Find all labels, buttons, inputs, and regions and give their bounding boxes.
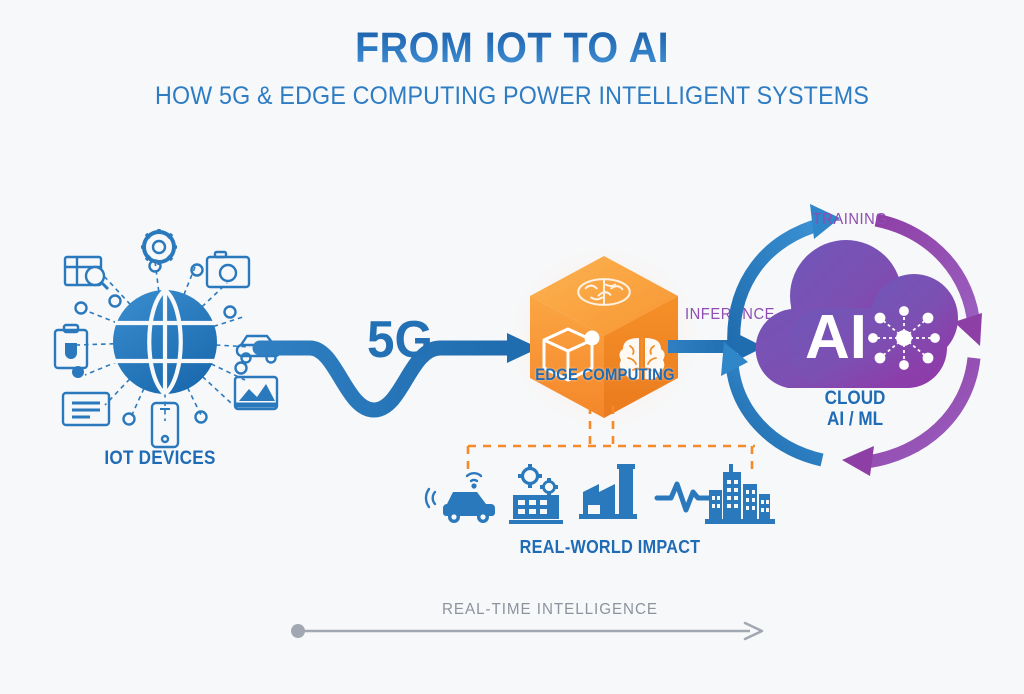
ai-badge-text: AI [805, 303, 867, 372]
heartbeat-icon [657, 484, 714, 510]
edge-computing-label: EDGE COMPUTING [506, 366, 704, 385]
gear-icon [141, 229, 177, 265]
document-icon [63, 393, 109, 425]
factory-icon [579, 464, 637, 519]
smartphone-icon [152, 403, 178, 447]
real-world-impact-label: REAL-WORLD IMPACT [493, 537, 727, 558]
infographic-canvas: FROM IOT TO AI HOW 5G & EDGE COMPUTING P… [0, 0, 1024, 694]
cloud-label: CLOUD AI / ML [770, 388, 941, 430]
city-skyline-icon [705, 464, 775, 524]
5g-label: 5G [348, 310, 453, 370]
timeline-arrow [290, 618, 770, 644]
connected-car-icon [426, 473, 495, 523]
grid-search-icon [65, 257, 108, 289]
iot-devices-label: IOT DEVICES [52, 448, 268, 470]
cloud-label-line1: CLOUD [770, 388, 941, 409]
iot-devices-cluster[interactable] [45, 235, 285, 450]
training-label: TRAINING [776, 211, 923, 229]
clipboard-icon [55, 325, 87, 368]
smart-building-icon [509, 464, 563, 524]
camera-icon [207, 252, 249, 287]
timeline-label: REAL-TIME INTELLIGENCE [341, 601, 759, 619]
cloud-label-line2: AI / ML [770, 409, 941, 430]
real-world-impact-icons[interactable] [425, 462, 795, 530]
globe-icon [113, 290, 217, 394]
